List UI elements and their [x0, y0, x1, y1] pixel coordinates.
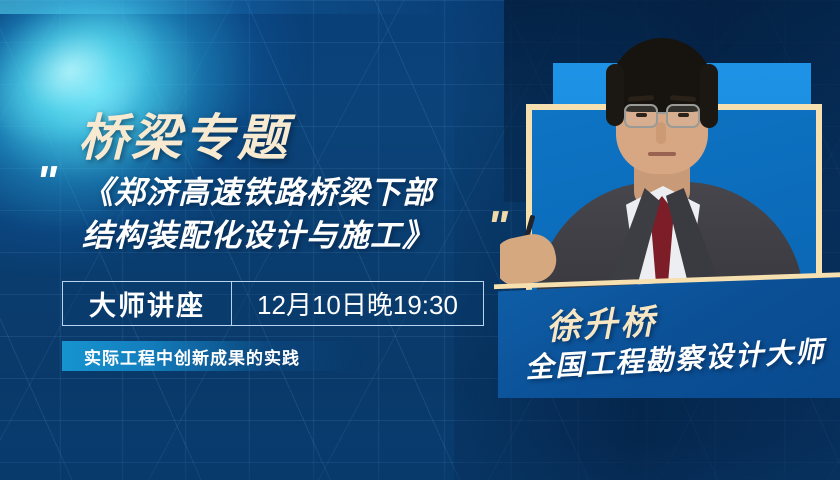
photo-hair-side-right: [700, 64, 718, 128]
photo-mouth: [648, 152, 676, 156]
lecture-datetime-label: 12月10日晚19:30: [232, 282, 483, 325]
quote-open-icon: ": [36, 160, 55, 204]
photo-eye-right: [678, 113, 689, 117]
page-title: 桥梁专题: [78, 98, 290, 170]
photo-hair: [610, 38, 714, 112]
bottom-shade-band: [0, 440, 840, 480]
speaker-photo: [500, 0, 840, 300]
photo-hair-side-left: [606, 64, 624, 126]
photo-nose: [656, 122, 666, 144]
lecture-subtitle: 《郑济高速铁路桥梁下部 结构装配化设计与施工》: [82, 172, 502, 258]
photo-eye-left: [636, 113, 647, 117]
tagline-banner: 实际工程中创新成果的实践: [62, 341, 362, 371]
glasses-bridge-icon: [657, 112, 667, 114]
lecture-info-box: 大师讲座 12月10日晚19:30: [62, 281, 484, 326]
lecture-subtitle-line-2: 结构装配化设计与施工》: [82, 215, 502, 258]
lecture-category-label: 大师讲座: [63, 282, 231, 325]
lecture-subtitle-line-1: 《郑济高速铁路桥梁下部: [82, 172, 502, 215]
poster-canvas: 桥梁专题 " " 《郑济高速铁路桥梁下部 结构装配化设计与施工》 大师讲座 12…: [0, 0, 840, 480]
